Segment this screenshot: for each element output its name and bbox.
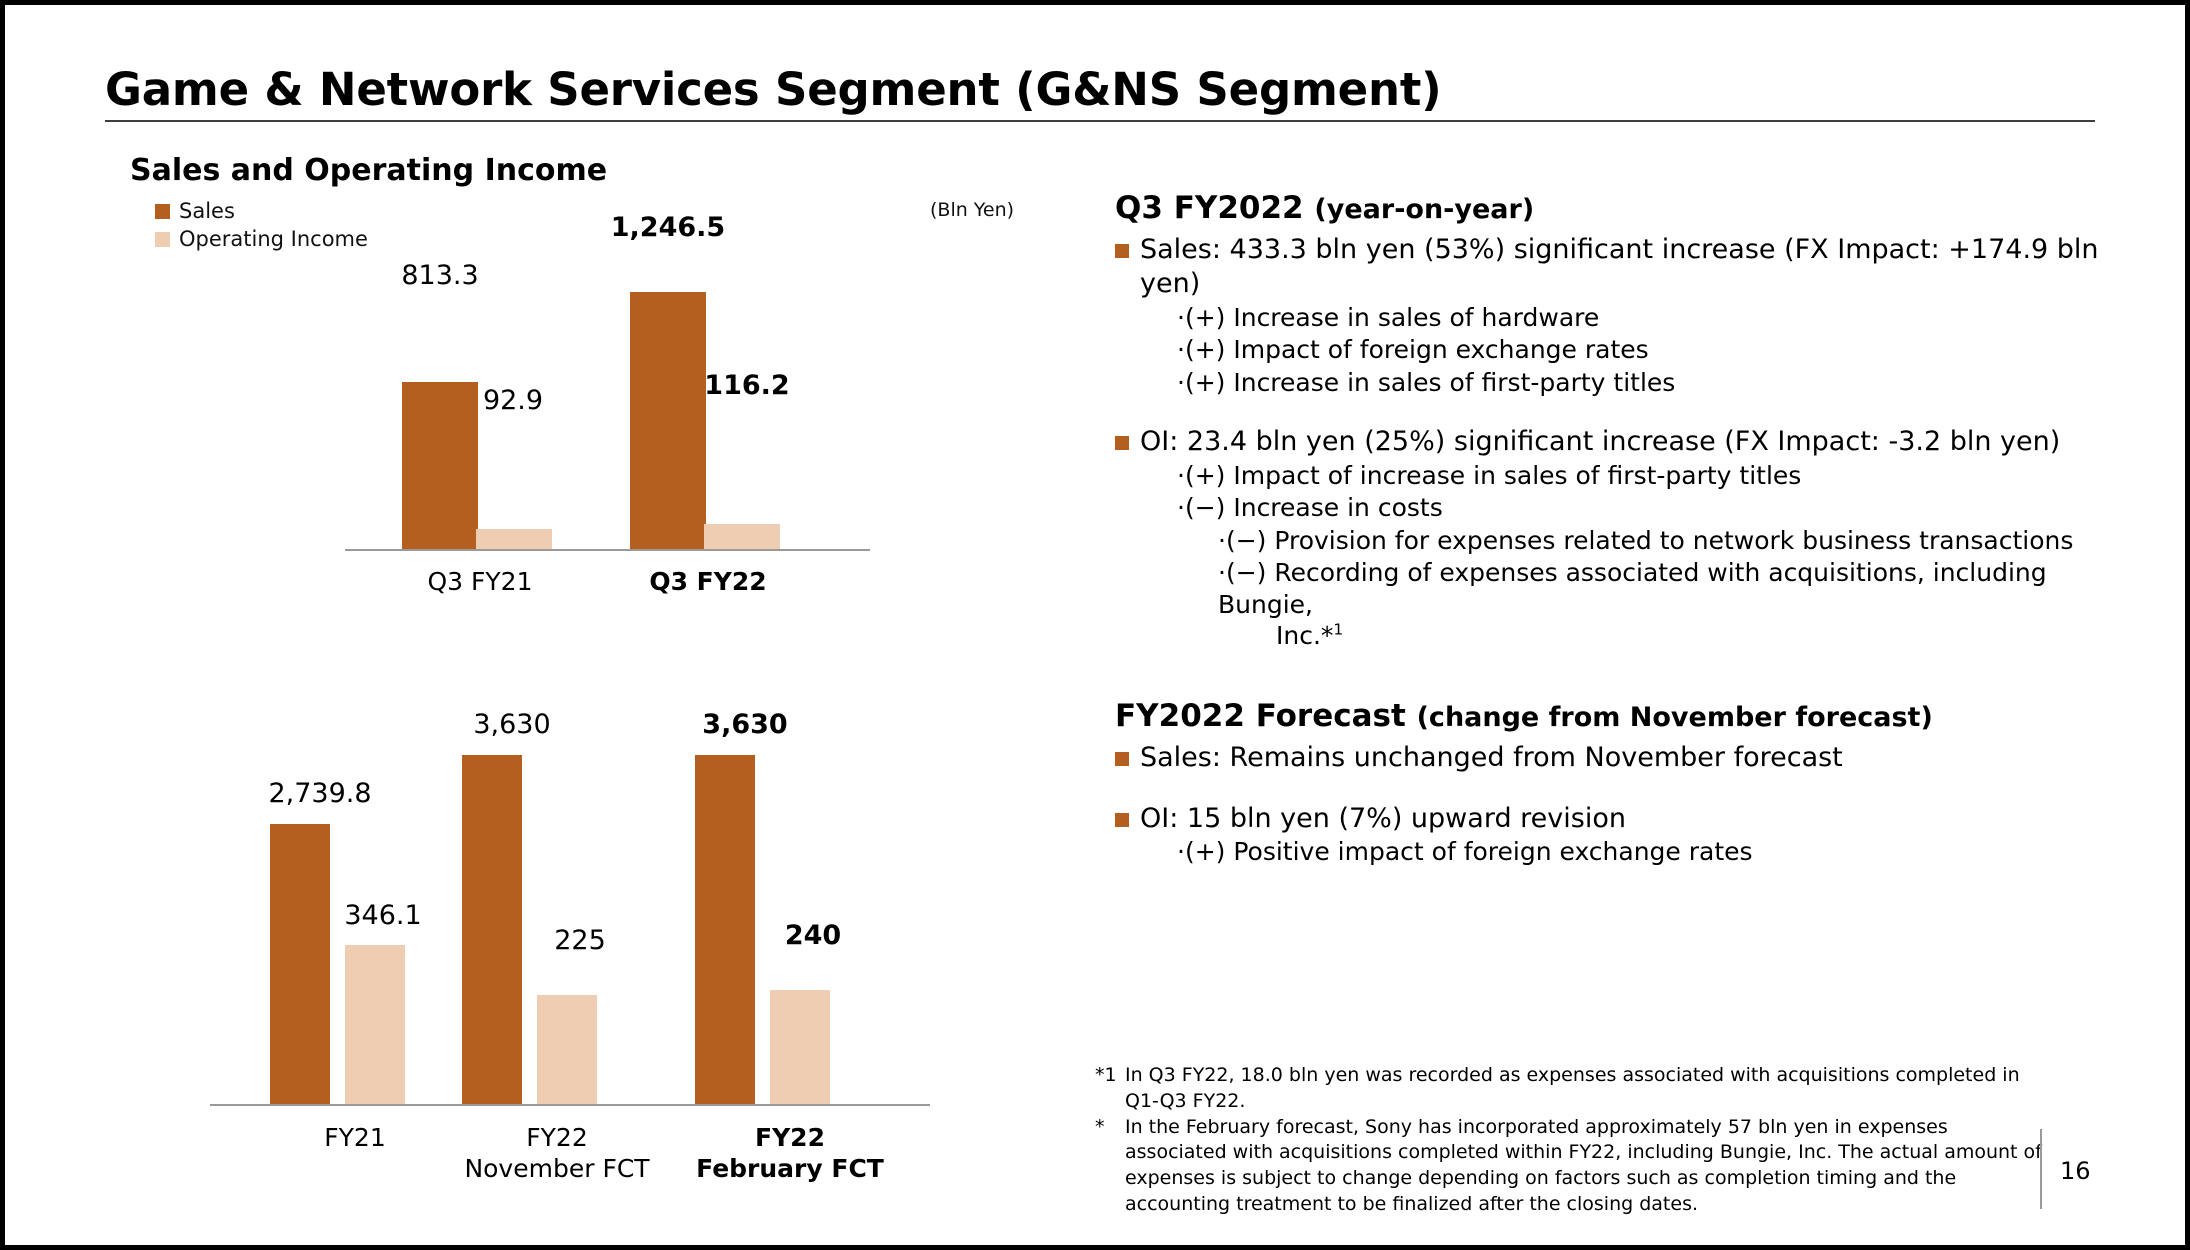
category-line-2: February FCT — [685, 1153, 895, 1184]
q3-sales-sub-1: ·(+) Increase in sales of hardware — [1177, 302, 2135, 334]
q3-oi-deep-2: ·(−) Recording of expenses associated wi… — [1218, 557, 2135, 652]
q3-oi-deep-2-line1: ·(−) Recording of expenses associated wi… — [1218, 558, 2047, 619]
bar-value-label: 346.1 — [303, 900, 463, 931]
square-bullet-icon — [1115, 813, 1129, 827]
category-line-1: FY22 — [685, 1122, 895, 1153]
forecast-sales-bullet: Sales: Remains unchanged from November f… — [1115, 741, 2135, 775]
chart-unit-note: (Bln Yen) — [930, 199, 1014, 221]
commentary-panel: Q3 FY2022 (year-on-year) Sales: 433.3 bl… — [1115, 190, 2135, 868]
bar-oi-fy21 — [345, 945, 405, 1105]
category-line-2: November FCT — [452, 1153, 662, 1184]
q3-oi-sub-1: ·(+) Impact of increase in sales of firs… — [1177, 460, 2135, 492]
title-divider — [105, 120, 2095, 122]
q3-oi-deep-1: ·(−) Provision for expenses related to n… — [1218, 525, 2135, 557]
category-line-1: FY22 — [452, 1122, 662, 1153]
legend-swatch-sales — [155, 204, 170, 219]
bar-value-label: 116.2 — [667, 370, 827, 401]
category-line-1: FY21 — [260, 1122, 450, 1153]
spacer — [1115, 775, 2135, 797]
bar-value-label: 1,246.5 — [588, 212, 748, 243]
forecast-section-title-main: FY2022 Forecast — [1115, 698, 1417, 734]
chart-quarterly-category-label: Q3 FY22 — [623, 566, 793, 597]
bar-value-label: 225 — [500, 925, 660, 956]
q3-oi-deep-2-line2: Inc.*1 — [1276, 620, 2135, 652]
legend-item-operating-income: Operating Income — [155, 225, 990, 253]
footnote-marker: *1 — [1095, 1063, 1125, 1115]
footnote-text: In the February forecast, Sony has incor… — [1125, 1115, 2045, 1218]
q3-section-title-main: Q3 FY2022 — [1115, 190, 1314, 226]
chart-quarterly-axis — [345, 549, 870, 551]
square-bullet-icon — [1115, 436, 1129, 450]
bar-value-label: 2,739.8 — [230, 778, 410, 809]
forecast-oi-sub-1: ·(+) Positive impact of foreign exchange… — [1177, 836, 2135, 868]
footnote-text: In Q3 FY22, 18.0 bln yen was recorded as… — [1125, 1063, 2045, 1115]
bar-oi-q3fy22 — [704, 524, 780, 550]
bar-value-label: 813.3 — [365, 260, 515, 291]
forecast-sales-bullet-text: Sales: Remains unchanged from November f… — [1140, 741, 1843, 775]
page-number-divider — [2040, 1129, 2042, 1209]
bar-oi-q3fy21 — [476, 529, 552, 550]
chart-heading: Sales and Operating Income — [130, 153, 990, 188]
q3-oi-deep-2-text: Inc.* — [1276, 621, 1333, 650]
q3-oi-sub-2: ·(−) Increase in costs — [1177, 492, 2135, 524]
bar-value-label: 92.9 — [438, 385, 588, 416]
title-block: Game & Network Services Segment (G&NS Se… — [105, 63, 2095, 122]
square-bullet-icon — [1115, 244, 1129, 258]
chart-fiscal-year-axis — [210, 1104, 930, 1106]
chart-fiscal-year-category-label: FY22 February FCT — [685, 1122, 895, 1185]
footnote-ref-1: 1 — [1333, 621, 1343, 639]
q3-section-title: Q3 FY2022 (year-on-year) — [1115, 190, 2135, 226]
page-title: Game & Network Services Segment (G&NS Se… — [105, 63, 2095, 116]
footnote-item: * In the February forecast, Sony has inc… — [1095, 1115, 2045, 1218]
slide-canvas: Game & Network Services Segment (G&NS Se… — [0, 0, 2190, 1250]
page-number: 16 — [2060, 1157, 2091, 1185]
chart-legend: Sales Operating Income — [155, 197, 990, 253]
q3-section-title-sub: (year-on-year) — [1314, 194, 1534, 225]
q3-oi-bullet-text: OI: 23.4 bln yen (25%) significant incre… — [1140, 425, 2060, 459]
chart-fiscal-year-category-label: FY22 November FCT — [452, 1122, 662, 1185]
chart-quarterly-plot: 813.3 92.9 1,246.5 116.2 — [345, 260, 875, 550]
bar-oi-fy22-nov — [537, 995, 597, 1105]
legend-swatch-operating-income — [155, 232, 170, 247]
forecast-oi-bullet: OI: 15 bln yen (7%) upward revision — [1115, 802, 2135, 836]
q3-sales-bullet: Sales: 433.3 bln yen (53%) significant i… — [1115, 233, 2135, 301]
q3-sales-sub-3: ·(+) Increase in sales of first-party ti… — [1177, 367, 2135, 399]
forecast-section-title: FY2022 Forecast (change from November fo… — [1115, 698, 2135, 734]
footnote-marker: * — [1095, 1115, 1125, 1218]
bar-sales-fy21 — [270, 824, 330, 1105]
footnote-item: *1 In Q3 FY22, 18.0 bln yen was recorded… — [1095, 1063, 2045, 1115]
legend-label-sales: Sales — [179, 199, 235, 223]
chart-fiscal-year: 2,739.8 346.1 3,630 225 3,630 240 FY21 F… — [130, 685, 990, 1145]
legend-label-operating-income: Operating Income — [179, 227, 368, 251]
q3-sales-bullet-text: Sales: 433.3 bln yen (53%) significant i… — [1140, 233, 2135, 301]
square-bullet-icon — [1115, 752, 1129, 766]
legend-item-sales: Sales — [155, 197, 990, 225]
q3-sales-sub-2: ·(+) Impact of foreign exchange rates — [1177, 334, 2135, 366]
spacer — [1115, 398, 2135, 420]
chart-quarterly-category-label: Q3 FY21 — [395, 566, 565, 597]
chart-quarterly: 813.3 92.9 1,246.5 116.2 Q3 FY21 Q3 FY22 — [130, 260, 990, 605]
chart-fiscal-year-category-label: FY21 — [260, 1122, 450, 1153]
bar-value-label: 3,630 — [655, 709, 835, 740]
forecast-section-title-sub: (change from November forecast) — [1417, 702, 1933, 733]
bar-oi-fy22-feb — [770, 990, 830, 1105]
spacer — [1115, 652, 2135, 698]
forecast-oi-bullet-text: OI: 15 bln yen (7%) upward revision — [1140, 802, 1626, 836]
q3-oi-bullet: OI: 23.4 bln yen (25%) significant incre… — [1115, 425, 2135, 459]
bar-sales-q3fy22 — [630, 292, 706, 550]
bar-value-label: 3,630 — [422, 709, 602, 740]
chart-fiscal-year-plot: 2,739.8 346.1 3,630 225 3,630 240 — [210, 685, 930, 1105]
bar-value-label: 240 — [733, 920, 893, 951]
footnotes: *1 In Q3 FY22, 18.0 bln yen was recorded… — [1095, 1063, 2045, 1218]
